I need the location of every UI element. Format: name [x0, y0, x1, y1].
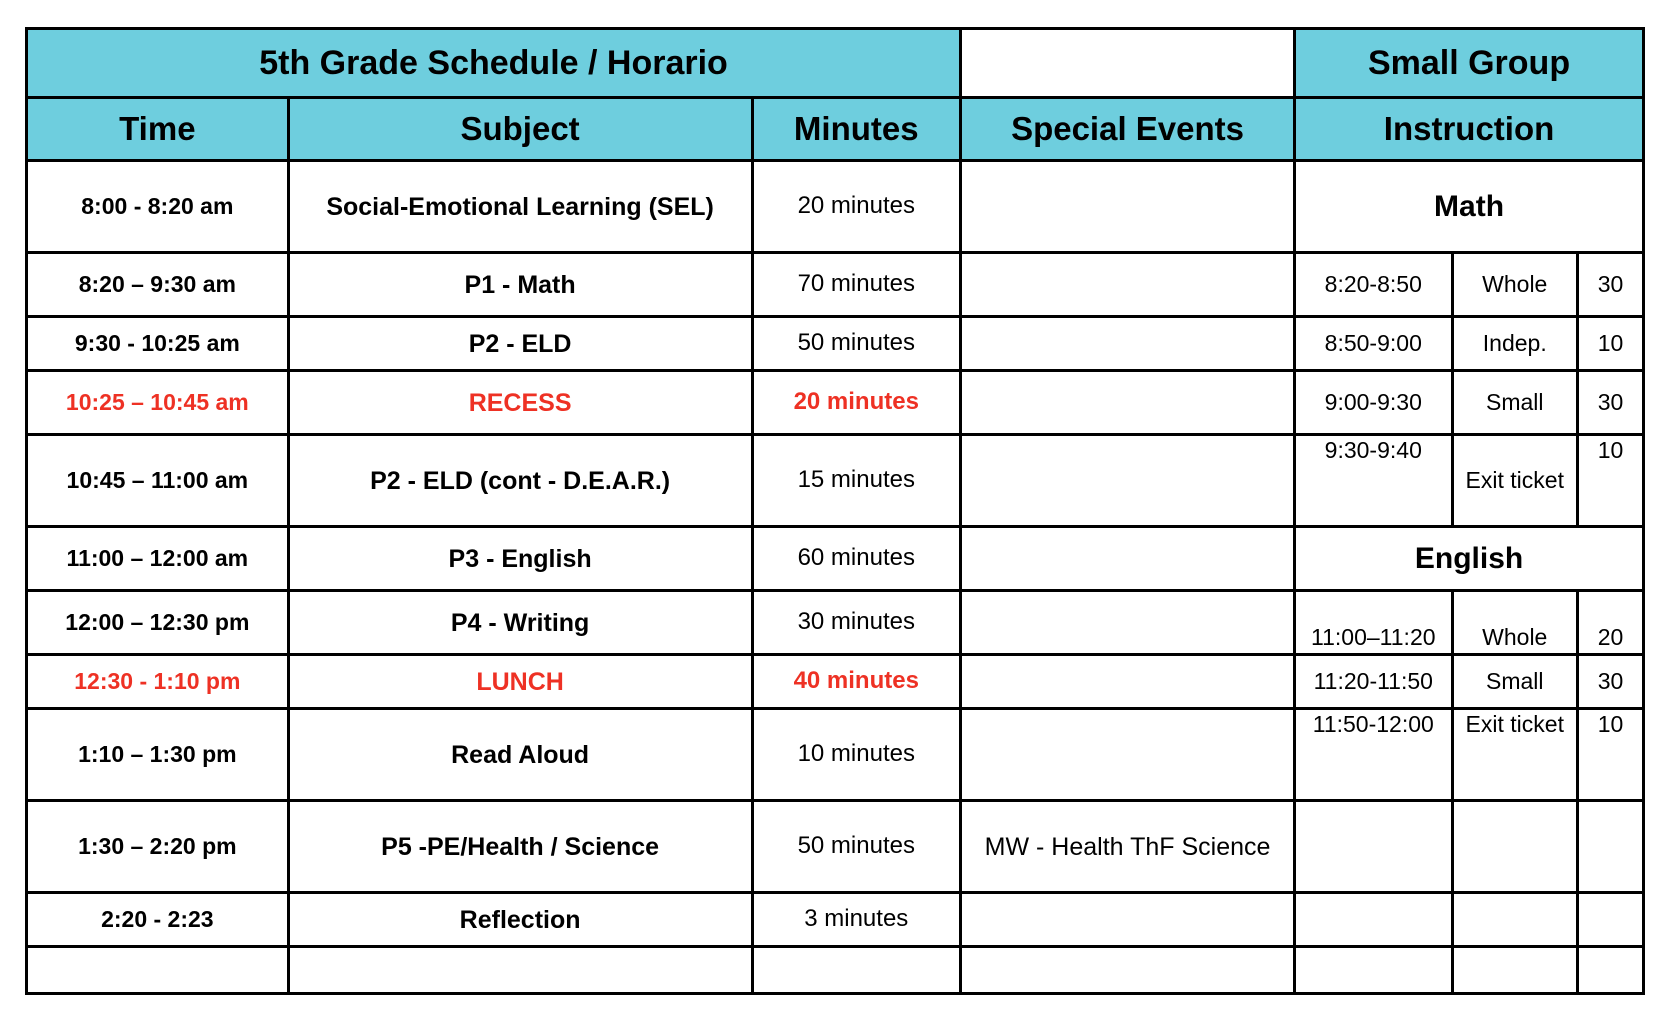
table-row-partial [27, 947, 1644, 994]
cell-minutes: 50 minutes [752, 801, 961, 893]
table-row: 1:30 – 2:20 pm P5 -PE/Health / Science 5… [27, 801, 1644, 893]
cell-subject: LUNCH [288, 655, 752, 709]
table-row: 12:30 - 1:10 pm LUNCH 40 minutes 11:20-1… [27, 655, 1644, 709]
cell-minutes: 3 minutes [752, 893, 961, 947]
cell-sg-minutes [1578, 801, 1644, 893]
cell-subject: Read Aloud [288, 709, 752, 801]
cell-time: 2:20 - 2:23 [27, 893, 289, 947]
column-header-instruction: Instruction [1295, 98, 1644, 161]
cell-subject: Social-Emotional Learning (SEL) [288, 161, 752, 253]
cell-time: 8:20 – 9:30 am [27, 253, 289, 317]
column-header-subject: Subject [288, 98, 752, 161]
cell-sg-type: Exit ticket [1452, 709, 1578, 801]
cell-special-events [961, 947, 1295, 994]
cell-special-events [961, 709, 1295, 801]
cell-time: 10:45 – 11:00 am [27, 435, 289, 527]
cell-special-events [961, 591, 1295, 655]
table-row: 1:10 – 1:30 pm Read Aloud 10 minutes 11:… [27, 709, 1644, 801]
cell-sg-time: 11:20-11:50 [1295, 655, 1452, 709]
cell-sg-type: Small [1452, 371, 1578, 435]
cell-sg-minutes: 20 [1578, 591, 1644, 655]
cell-subject: P1 - Math [288, 253, 752, 317]
cell-sg-minutes: 30 [1578, 371, 1644, 435]
column-header-time: Time [27, 98, 289, 161]
cell-special-events [961, 527, 1295, 591]
cell-minutes: 10 minutes [752, 709, 961, 801]
cell-time: 1:30 – 2:20 pm [27, 801, 289, 893]
cell-subject: Reflection [288, 893, 752, 947]
cell-sg-time: 11:00–11:20 [1295, 591, 1452, 655]
table-row: 11:00 – 12:00 am P3 - English 60 minutes… [27, 527, 1644, 591]
cell-minutes: 15 minutes [752, 435, 961, 527]
cell-time: 9:30 - 10:25 am [27, 317, 289, 371]
cell-sg-type [1452, 893, 1578, 947]
table-row: 12:00 – 12:30 pm P4 - Writing 30 minutes… [27, 591, 1644, 655]
cell-sg-time [1295, 801, 1452, 893]
title-spacer-cell [961, 29, 1295, 98]
cell-minutes: 40 minutes [752, 655, 961, 709]
cell-time: 8:00 - 8:20 am [27, 161, 289, 253]
cell-subject: RECESS [288, 371, 752, 435]
cell-special-events [961, 161, 1295, 253]
cell-subject: P3 - English [288, 527, 752, 591]
column-header-row: Time Subject Minutes Special Events Inst… [27, 98, 1644, 161]
cell-sg-time: 8:20-8:50 [1295, 253, 1452, 317]
schedule-table: 5th Grade Schedule / Horario Small Group… [25, 27, 1645, 995]
table-row: 10:25 – 10:45 am RECESS 20 minutes 9:00-… [27, 371, 1644, 435]
cell-special-events [961, 893, 1295, 947]
cell-special-events [961, 317, 1295, 371]
small-group-title: Small Group [1295, 29, 1644, 98]
schedule-sheet: 5th Grade Schedule / Horario Small Group… [0, 0, 1668, 1034]
column-header-minutes: Minutes [752, 98, 961, 161]
cell-sg-type [1452, 947, 1578, 994]
cell-sg-type: Small [1452, 655, 1578, 709]
table-title-row: 5th Grade Schedule / Horario Small Group [27, 29, 1644, 98]
cell-time: 12:00 – 12:30 pm [27, 591, 289, 655]
cell-subject: P2 - ELD [288, 317, 752, 371]
cell-special-events [961, 435, 1295, 527]
table-row: 8:20 – 9:30 am P1 - Math 70 minutes 8:20… [27, 253, 1644, 317]
cell-subject [288, 947, 752, 994]
cell-sg-time [1295, 947, 1452, 994]
cell-sg-minutes: 30 [1578, 253, 1644, 317]
cell-minutes: 70 minutes [752, 253, 961, 317]
table-row: 8:00 - 8:20 am Social-Emotional Learning… [27, 161, 1644, 253]
cell-minutes: 60 minutes [752, 527, 961, 591]
cell-sg-time [1295, 893, 1452, 947]
cell-sg-minutes [1578, 893, 1644, 947]
cell-sg-time: 11:50-12:00 [1295, 709, 1452, 801]
cell-special-events [961, 655, 1295, 709]
cell-minutes: 30 minutes [752, 591, 961, 655]
cell-minutes [752, 947, 961, 994]
cell-sg-type: Whole [1452, 253, 1578, 317]
cell-sg-minutes: 10 [1578, 709, 1644, 801]
cell-minutes: 20 minutes [752, 371, 961, 435]
cell-minutes: 20 minutes [752, 161, 961, 253]
cell-special-events [961, 371, 1295, 435]
cell-minutes: 50 minutes [752, 317, 961, 371]
cell-sg-type: Exit ticket [1452, 435, 1578, 527]
cell-subject: P2 - ELD (cont - D.E.A.R.) [288, 435, 752, 527]
cell-subject: P4 - Writing [288, 591, 752, 655]
cell-time: 10:25 – 10:45 am [27, 371, 289, 435]
cell-sg-minutes: 30 [1578, 655, 1644, 709]
cell-sg-minutes: 10 [1578, 435, 1644, 527]
small-group-subject-english: English [1295, 527, 1644, 591]
cell-sg-minutes [1578, 947, 1644, 994]
small-group-subject-math: Math [1295, 161, 1644, 253]
cell-sg-time: 8:50-9:00 [1295, 317, 1452, 371]
cell-sg-type [1452, 801, 1578, 893]
cell-sg-minutes: 10 [1578, 317, 1644, 371]
cell-time: 12:30 - 1:10 pm [27, 655, 289, 709]
cell-time [27, 947, 289, 994]
cell-sg-time: 9:00-9:30 [1295, 371, 1452, 435]
cell-special-events [961, 253, 1295, 317]
cell-sg-type: Indep. [1452, 317, 1578, 371]
cell-time: 1:10 – 1:30 pm [27, 709, 289, 801]
cell-time: 11:00 – 12:00 am [27, 527, 289, 591]
cell-sg-type: Whole [1452, 591, 1578, 655]
cell-sg-time: 9:30-9:40 [1295, 435, 1452, 527]
table-row: 2:20 - 2:23 Reflection 3 minutes [27, 893, 1644, 947]
cell-subject: P5 -PE/Health / Science [288, 801, 752, 893]
schedule-title: 5th Grade Schedule / Horario [27, 29, 961, 98]
cell-special-events: MW - Health ThF Science [961, 801, 1295, 893]
table-row: 9:30 - 10:25 am P2 - ELD 50 minutes 8:50… [27, 317, 1644, 371]
column-header-special-events: Special Events [961, 98, 1295, 161]
table-row: 10:45 – 11:00 am P2 - ELD (cont - D.E.A.… [27, 435, 1644, 527]
